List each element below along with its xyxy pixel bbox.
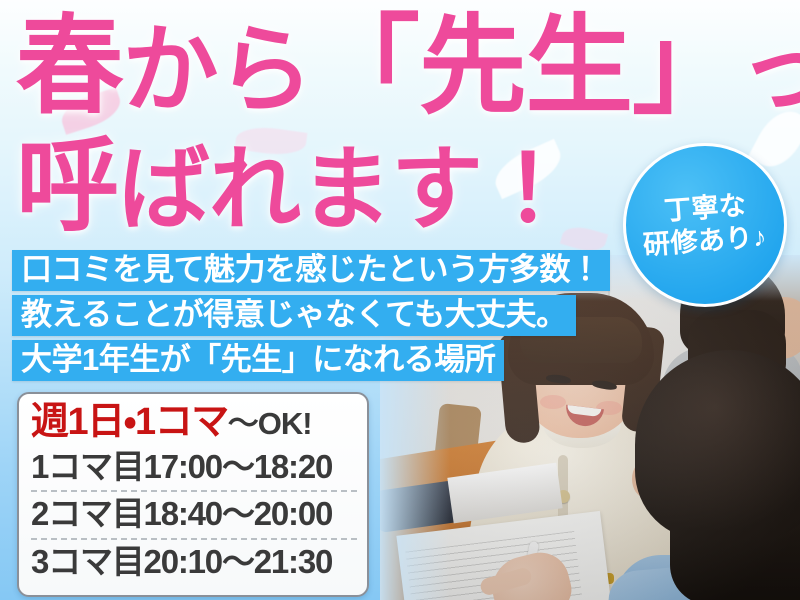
highlight-bar-3: 大学1年生が「先生」になれる場所 bbox=[12, 340, 504, 381]
headline-line-1-tail: って bbox=[739, 17, 800, 124]
highlight-bar-2: 教えることが得意じゃなくても大丈夫。 bbox=[12, 295, 576, 336]
schedule-slot-2: 2コマ目18:40〜20:00 bbox=[31, 492, 357, 540]
schedule-headline-emphasis: 週1日・1コマ bbox=[31, 401, 228, 443]
headline-line-1-quoted: 「先生」 bbox=[313, 6, 739, 126]
recruitment-banner: 春から「先生」って 呼ばれます！ 口コミを見て魅力を感じたという方多数！ 教える… bbox=[0, 0, 800, 600]
headline-line-2-kanji: 呼 bbox=[16, 128, 118, 243]
training-badge: 丁寧な 研修あり♪ bbox=[623, 143, 787, 307]
headline-line-2-kana: ばれます！ bbox=[118, 139, 573, 241]
headline-line-1-kanji: 春 bbox=[16, 6, 123, 126]
headline-line-2: 呼ばれます！ bbox=[16, 132, 573, 240]
schedule-slot-3: 3コマ目20:10〜21:30 bbox=[31, 540, 357, 586]
schedule-headline: 週1日・1コマ〜OK! bbox=[31, 401, 357, 444]
schedule-headline-suffix: 〜OK! bbox=[228, 406, 312, 441]
headline-line-1-kana: から bbox=[123, 17, 313, 124]
schedule-panel: 週1日・1コマ〜OK! 1コマ目17:00〜18:20 2コマ目18:40〜20… bbox=[17, 392, 369, 597]
training-badge-line-2: 研修あり♪ bbox=[642, 221, 768, 263]
headline-line-1: 春から「先生」って bbox=[16, 10, 800, 123]
schedule-slot-1: 1コマ目17:00〜18:20 bbox=[31, 445, 357, 493]
highlight-bar-1: 口コミを見て魅力を感じたという方多数！ bbox=[12, 250, 610, 291]
